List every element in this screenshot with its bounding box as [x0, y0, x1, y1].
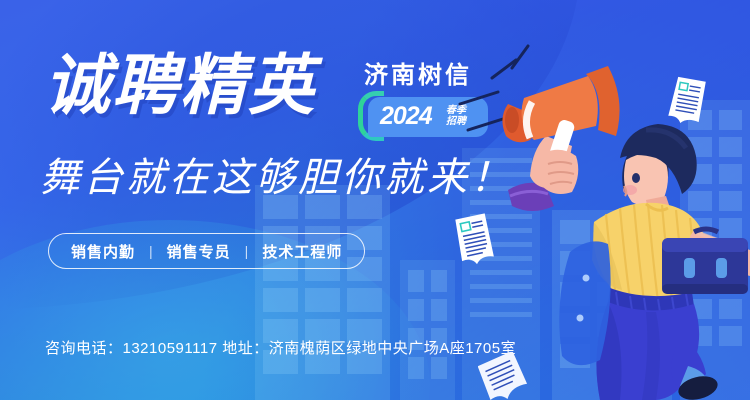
contact-info-text: 咨询电话：13210591117 地址：济南槐荫区绿地中央广场A座1705室 — [45, 337, 516, 358]
building-shape — [552, 210, 672, 400]
position-item: 销售内勤 — [71, 241, 135, 262]
resume-document-icon — [478, 352, 532, 400]
position-separator: | — [245, 243, 249, 259]
building-shape — [255, 185, 390, 400]
coat-tail — [559, 241, 610, 365]
year-text: 2024 — [380, 104, 432, 129]
brand-block: 济南树信 2024 春季招聘 — [358, 64, 538, 137]
gripping-hand — [540, 150, 579, 194]
cuff — [680, 366, 706, 387]
building-shape — [680, 100, 750, 400]
pants-shadow — [596, 302, 621, 400]
subheadline-text: 舞台就在这够胆你就来！ — [40, 158, 513, 198]
company-name: 济南树信 — [364, 64, 538, 88]
position-separator: | — [149, 243, 153, 259]
resume-document-icon — [452, 212, 498, 273]
pants — [596, 302, 699, 400]
waistband — [608, 288, 694, 312]
year-badge: 2024 春季招聘 — [358, 97, 488, 137]
cheek-blush — [623, 185, 637, 195]
shirt-stripes — [606, 204, 698, 302]
resume-document-icon — [666, 76, 710, 133]
shirt — [593, 203, 706, 299]
lower-leg — [671, 336, 706, 386]
eye — [632, 173, 640, 183]
hair-front — [620, 124, 697, 194]
headline-text: 诚聘精英 — [44, 52, 316, 118]
extended-arm — [687, 230, 750, 276]
position-item: 销售专员 — [167, 241, 231, 262]
building-shape — [400, 260, 455, 400]
shirt-shadow — [592, 222, 622, 290]
face — [624, 153, 668, 206]
neck — [646, 196, 672, 220]
back-shoe — [508, 183, 554, 211]
briefcase-icon — [662, 229, 748, 294]
hair-back — [622, 148, 668, 200]
season-text: 春季招聘 — [446, 105, 472, 127]
positions-pill: 销售内勤 | 销售专员 | 技术工程师 — [48, 233, 365, 269]
recruitment-banner: 诚聘精英 济南树信 2024 春季招聘 舞台就在这够胆你就来！ 销售内勤 | 销… — [0, 0, 750, 400]
back-arm — [530, 136, 572, 188]
position-item: 技术工程师 — [262, 241, 342, 262]
shoe — [676, 372, 720, 400]
